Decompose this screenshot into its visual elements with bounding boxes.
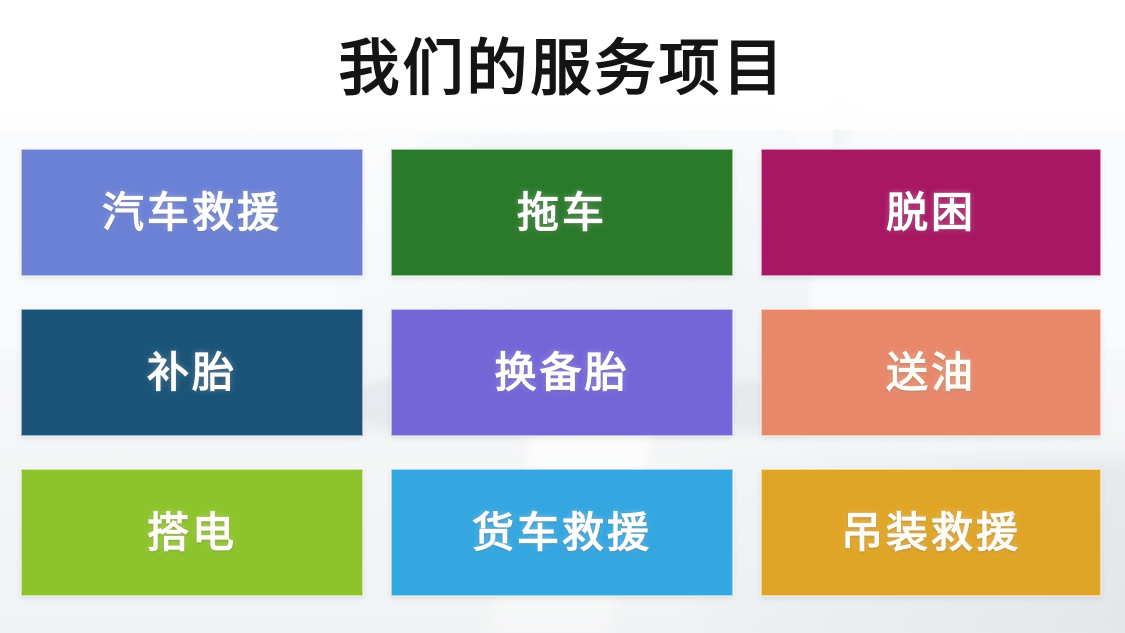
service-tile-label: 搭电 (147, 512, 237, 554)
service-tile-label: 货车救援 (472, 512, 652, 554)
service-tile-car-rescue[interactable]: 汽车救援 (21, 149, 363, 276)
service-tile-fuel-delivery[interactable]: 送油 (761, 309, 1101, 436)
service-tile-truck-rescue[interactable]: 货车救援 (391, 469, 733, 596)
service-tile-crane-rescue[interactable]: 吊装救援 (761, 469, 1101, 596)
service-tile-label: 脱困 (886, 192, 976, 234)
service-tile-label: 补胎 (147, 352, 237, 394)
service-tile-spare-tire[interactable]: 换备胎 (391, 309, 733, 436)
service-tile-tire-repair[interactable]: 补胎 (21, 309, 363, 436)
service-tile-label: 拖车 (517, 192, 607, 234)
service-tile-extraction[interactable]: 脱困 (761, 149, 1101, 276)
service-tile-label: 换备胎 (494, 352, 629, 394)
service-tile-jump-start[interactable]: 搭电 (21, 469, 363, 596)
service-poster: 我们的服务项目 汽车救援 拖车 脱困 补胎 换备胎 送油 搭电 货车救援 吊装救… (0, 0, 1125, 633)
service-tile-tow-truck[interactable]: 拖车 (391, 149, 733, 276)
title-band: 我们的服务项目 (0, 0, 1125, 130)
page-title: 我们的服务项目 (338, 38, 786, 99)
service-tile-label: 送油 (886, 352, 976, 394)
service-tile-label: 吊装救援 (841, 512, 1021, 554)
service-grid: 汽车救援 拖车 脱困 补胎 换备胎 送油 搭电 货车救援 吊装救援 (21, 149, 1102, 597)
service-tile-label: 汽车救援 (102, 192, 282, 234)
